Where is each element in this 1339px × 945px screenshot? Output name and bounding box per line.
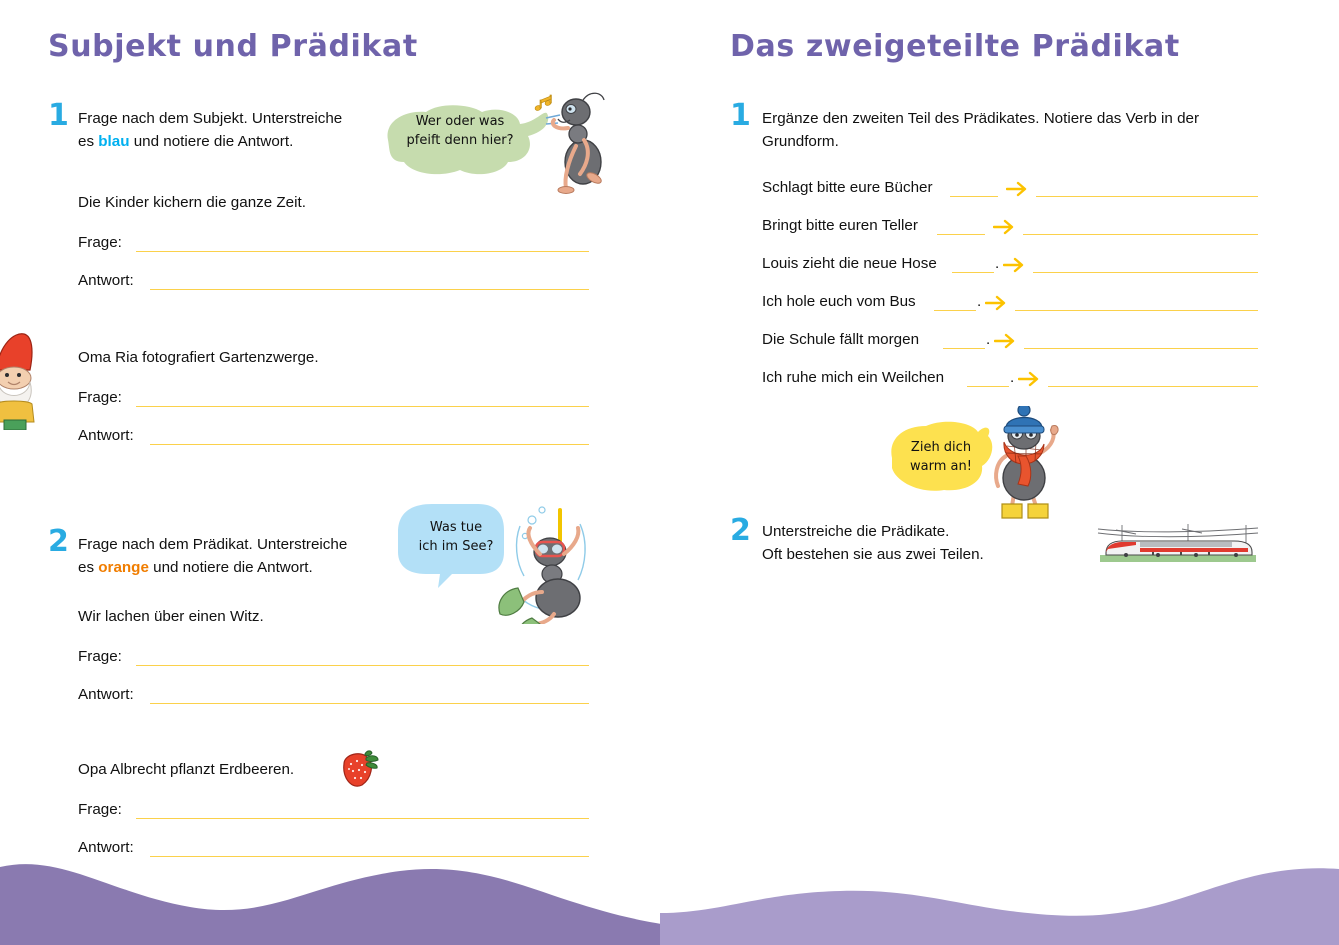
- exercise-1-instruction-right: Ergänze den zweiten Teil des Prädikates.…: [762, 108, 1262, 153]
- fill-row-6[interactable]: Ich ruhe mich ein Weilchen .: [762, 369, 1272, 393]
- exercise-2-instruction-pre: es: [78, 559, 98, 576]
- arrow-icon: [1003, 257, 1025, 273]
- write-line[interactable]: [150, 289, 589, 290]
- gap-line[interactable]: [952, 272, 994, 273]
- answer-row-frage-1-1[interactable]: Frage:: [78, 234, 593, 256]
- exercise-2-instruction-right: Unterstreiche die Prädikate. Oft bestehe…: [762, 521, 1082, 566]
- instruction-line1: Ergänze den zweiten Teil des Prädikates.…: [762, 110, 1199, 127]
- exercise-1-instruction-line1: Frage nach dem Subjekt. Unterstreiche: [78, 110, 342, 127]
- write-line[interactable]: [150, 444, 589, 445]
- exercise-1-instruction-post: und notiere die Antwort.: [130, 133, 294, 150]
- page-title-left: Subjekt und Prädikat: [48, 29, 418, 64]
- label-frage: Frage:: [78, 801, 122, 818]
- instruction-line2: Oft bestehen sie aus zwei Teilen.: [762, 546, 984, 563]
- wave-light: [660, 868, 1339, 945]
- exercise-2-instruction: Frage nach dem Prädikat. Unterstreiche e…: [78, 534, 408, 579]
- exercise-number-2-right: 2: [730, 516, 751, 546]
- answer-row-antwort-1-1[interactable]: Antwort:: [78, 272, 593, 294]
- arrow-icon: [1018, 371, 1040, 387]
- write-line[interactable]: [136, 251, 589, 252]
- answer-row-frage-1-2[interactable]: Frage:: [78, 389, 593, 411]
- answer-line[interactable]: [1015, 310, 1258, 311]
- arrow-icon: [985, 295, 1007, 311]
- period-mark: .: [1010, 369, 1014, 386]
- label-frage: Frage:: [78, 648, 122, 665]
- write-line[interactable]: [136, 665, 589, 666]
- answer-line[interactable]: [1033, 272, 1258, 273]
- arrow-icon: [1006, 181, 1028, 197]
- answer-line[interactable]: [1048, 386, 1258, 387]
- exercise-number-2: 2: [48, 527, 69, 557]
- fill-row-3-text: Louis zieht die neue Hose: [762, 255, 937, 272]
- write-line[interactable]: [150, 703, 589, 704]
- sentence-2-2: Opa Albrecht pflanzt Erdbeeren.: [78, 761, 294, 778]
- instruction-line2: Grundform.: [762, 133, 839, 150]
- gap-line[interactable]: [967, 386, 1009, 387]
- right-page: Das zweigeteilte Prädikat 1 Ergänze den …: [670, 0, 1339, 945]
- train-illustration: [1096, 521, 1260, 567]
- exercise-2-instruction-line1: Frage nach dem Prädikat. Unterstreiche: [78, 536, 347, 553]
- fill-row-2-text: Bringt bitte euren Teller: [762, 217, 918, 234]
- fill-row-3[interactable]: Louis zieht die neue Hose .: [762, 255, 1272, 279]
- answer-row-antwort-1-2[interactable]: Antwort:: [78, 427, 593, 449]
- period-mark: .: [977, 293, 981, 310]
- exercise-1-instruction: Frage nach dem Subjekt. Unterstreiche es…: [78, 108, 408, 153]
- exercise-1-instruction-pre: es: [78, 133, 98, 150]
- exercise-number-1: 1: [48, 101, 69, 131]
- label-antwort: Antwort:: [78, 427, 134, 444]
- fill-row-4-text: Ich hole euch vom Bus: [762, 293, 916, 310]
- highlight-word-blau: blau: [98, 133, 129, 150]
- fill-row-4[interactable]: Ich hole euch vom Bus .: [762, 293, 1272, 317]
- gap-line[interactable]: [934, 310, 976, 311]
- period-mark: .: [986, 331, 990, 348]
- answer-line[interactable]: [1024, 348, 1258, 349]
- page-title-right: Das zweigeteilte Prädikat: [730, 29, 1180, 64]
- fill-row-1-text: Schlagt bitte eure Bücher: [762, 179, 933, 196]
- gap-line[interactable]: [950, 196, 998, 197]
- fill-row-5-text: Die Schule fällt morgen: [762, 331, 919, 348]
- period-mark: .: [995, 255, 999, 272]
- fill-row-5[interactable]: Die Schule fällt morgen .: [762, 331, 1272, 355]
- decorative-wave-footer: [0, 835, 1339, 945]
- gap-line[interactable]: [943, 348, 985, 349]
- label-antwort: Antwort:: [78, 686, 134, 703]
- answer-row-frage-2-2[interactable]: Frage:: [78, 801, 593, 823]
- workbook-spread: Subjekt und Prädikat 1 Frage nach dem Su…: [0, 0, 1339, 945]
- sentence-1-1: Die Kinder kichern die ganze Zeit.: [78, 194, 306, 211]
- answer-line[interactable]: [1023, 234, 1258, 235]
- fill-row-6-text: Ich ruhe mich ein Weilchen: [762, 369, 944, 386]
- answer-row-antwort-2-1[interactable]: Antwort:: [78, 686, 593, 708]
- arrow-icon: [993, 219, 1015, 235]
- snorkeling-ant-bubble-text: Was tue ich im See?: [400, 518, 512, 556]
- snorkeling-ant-illustration: [392, 496, 592, 624]
- exercise-number-1-right: 1: [730, 101, 751, 131]
- strawberry-illustration: [336, 750, 380, 790]
- write-line[interactable]: [136, 818, 589, 819]
- highlight-word-orange: orange: [98, 559, 149, 576]
- exercise-2-instruction-post: und notiere die Antwort.: [149, 559, 313, 576]
- left-page: Subjekt und Prädikat 1 Frage nach dem Su…: [0, 0, 670, 945]
- fill-row-1[interactable]: Schlagt bitte eure Bücher: [762, 179, 1272, 203]
- sentence-2-1: Wir lachen über einen Witz.: [78, 608, 264, 625]
- label-frage: Frage:: [78, 234, 122, 251]
- sentence-1-2: Oma Ria fotografiert Gartenzwerge.: [78, 349, 319, 366]
- whistling-ant-bubble-text: Wer oder was pfeift denn hier?: [390, 112, 530, 150]
- arrow-icon: [994, 333, 1016, 349]
- label-frage: Frage:: [78, 389, 122, 406]
- garden-gnome-illustration: [0, 330, 38, 430]
- winter-ant-bubble-text: Zieh dich warm an!: [898, 438, 984, 476]
- gap-line[interactable]: [937, 234, 985, 235]
- label-antwort: Antwort:: [78, 272, 134, 289]
- answer-row-frage-2-1[interactable]: Frage:: [78, 648, 593, 670]
- answer-line[interactable]: [1036, 196, 1258, 197]
- write-line[interactable]: [136, 406, 589, 407]
- fill-row-2[interactable]: Bringt bitte euren Teller: [762, 217, 1272, 241]
- instruction-line1: Unterstreiche die Prädikate.: [762, 523, 949, 540]
